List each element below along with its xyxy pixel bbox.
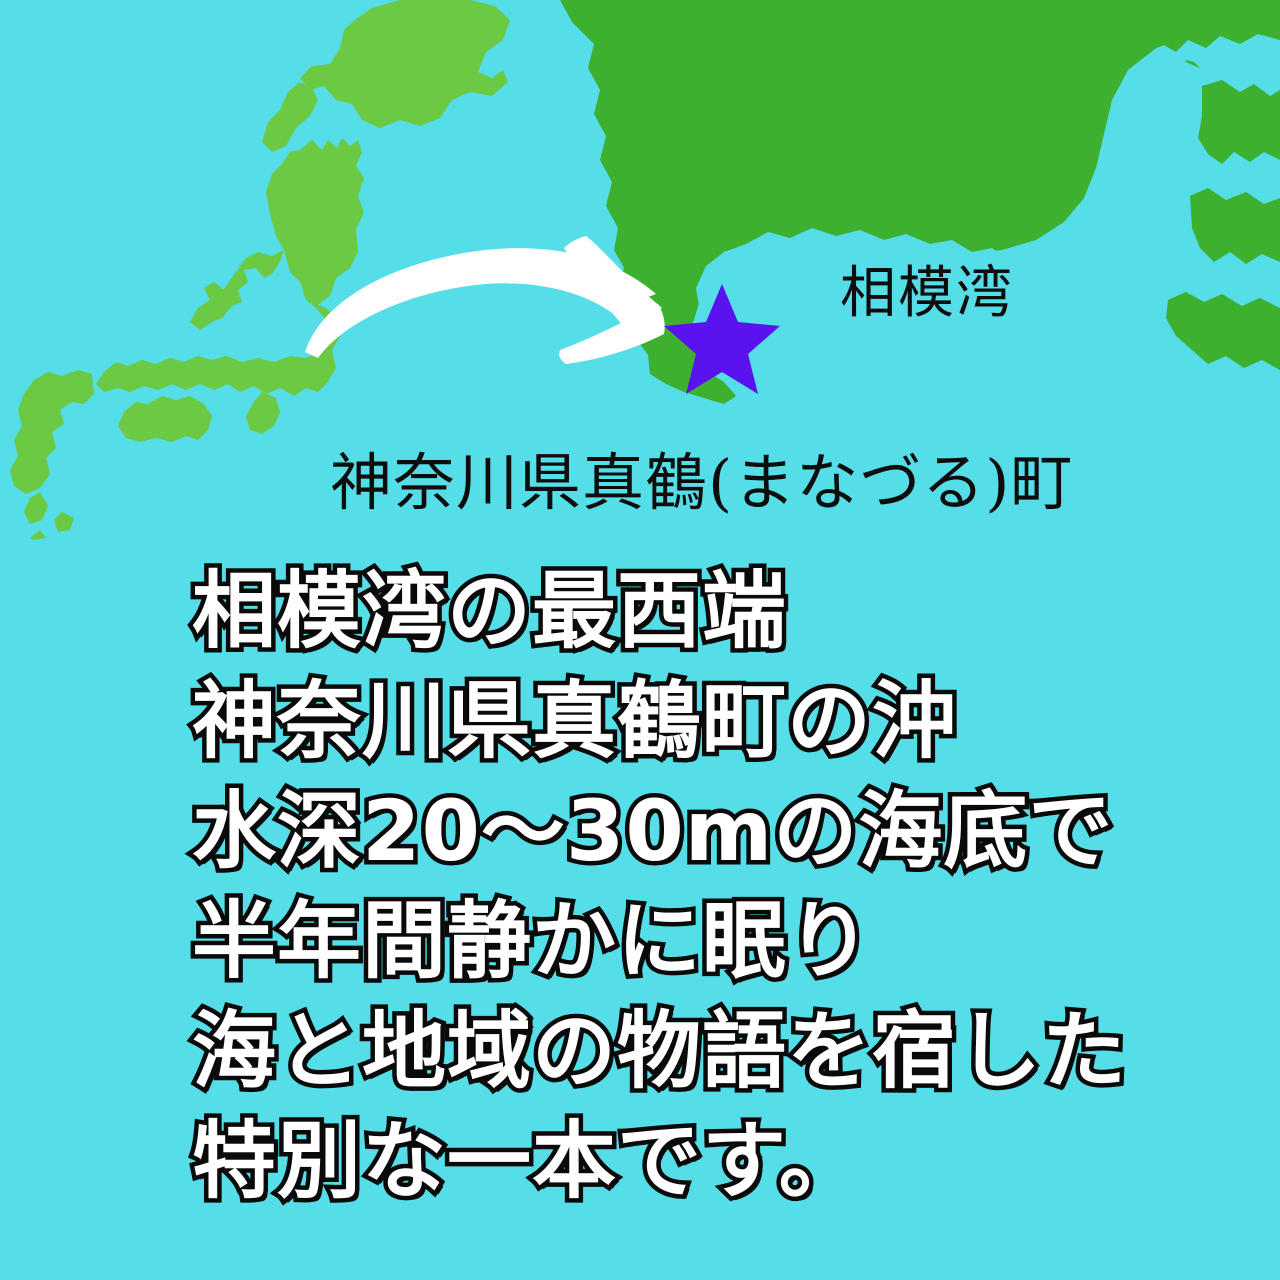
copy-line-2: 神奈川県真鶴町の沖 bbox=[192, 666, 1192, 776]
copy-line-3: 水深20〜30mの海底で bbox=[192, 776, 1192, 886]
copy-line-4: 半年間静かに眠り bbox=[192, 886, 1192, 996]
town-caption-label: 神奈川県真鶴(まなづる)町 bbox=[330, 432, 1073, 522]
poster-canvas: 相模湾 神奈川県真鶴(まなづる)町 相模湾の最西端 神奈川県真鶴町の沖 水深20… bbox=[0, 0, 1280, 1280]
body-copy-block: 相模湾の最西端 神奈川県真鶴町の沖 水深20〜30mの海底で 半年間静かに眠り … bbox=[192, 556, 1192, 1216]
sagami-bay-label: 相模湾 bbox=[840, 248, 1014, 329]
copy-line-1: 相模湾の最西端 bbox=[192, 556, 1192, 666]
copy-line-6: 特別な一本です。 bbox=[192, 1106, 1192, 1216]
copy-line-5: 海と地域の物語を宿した bbox=[192, 996, 1192, 1106]
